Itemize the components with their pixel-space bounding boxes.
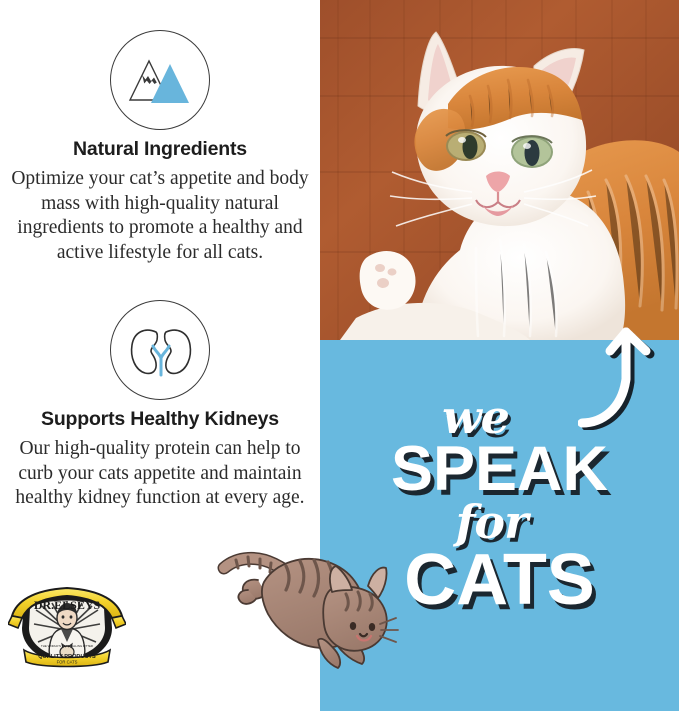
kidneys-icon bbox=[110, 300, 210, 400]
feature-block-natural-ingredients: Natural Ingredients Optimize your cat’s … bbox=[0, 30, 320, 265]
logo-ribbon-subtext: FOR CATS bbox=[57, 660, 78, 665]
headline-speak: SPEAK bbox=[320, 439, 679, 499]
cat-photo bbox=[320, 0, 679, 340]
feature-title: Natural Ingredients bbox=[0, 138, 320, 161]
feature-body: Our high-quality protein can help to cur… bbox=[7, 437, 313, 511]
feature-body: Optimize your cat’s appetite and body ma… bbox=[7, 167, 313, 265]
logo-tagline-text: THE WORLD’S BEST SELLING LITTER bbox=[41, 644, 93, 648]
curved-up-arrow-icon bbox=[578, 310, 679, 430]
ad-canvas: Natural Ingredients Optimize your cat’s … bbox=[0, 0, 679, 711]
mountain-icon bbox=[110, 30, 210, 130]
leaping-tabby-cat-illustration bbox=[212, 528, 404, 670]
logo-brand-text: DR.ELSEYS bbox=[34, 598, 101, 612]
dr-elseys-logo: DR.ELSEYS QUALITY PRODUCTS FOR CATS THE … bbox=[8, 584, 126, 668]
